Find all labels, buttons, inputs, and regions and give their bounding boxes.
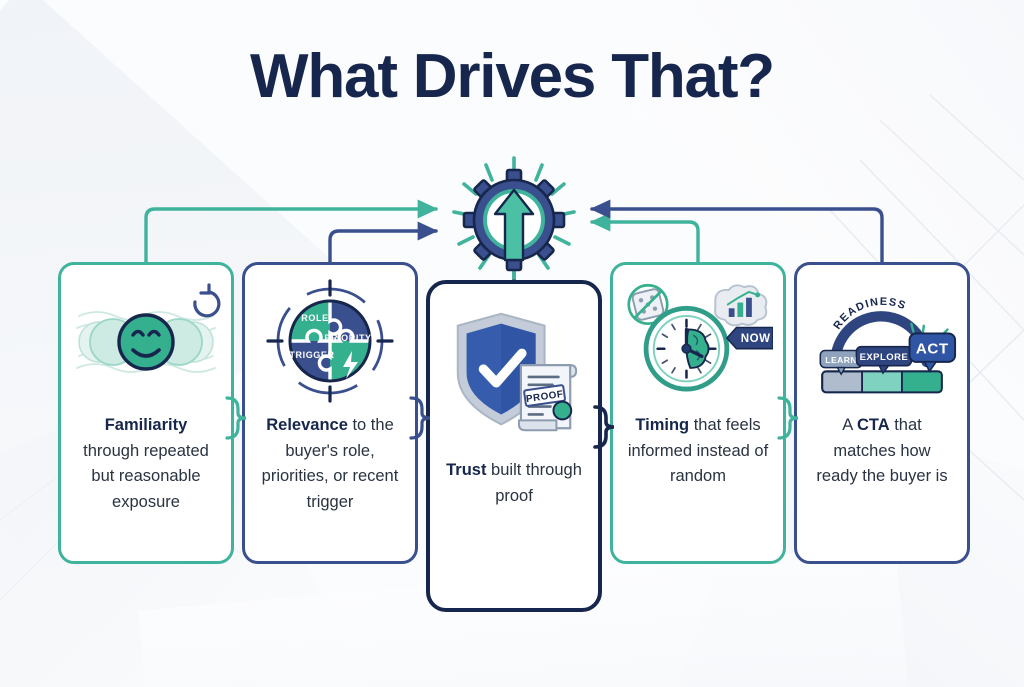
card-trust-rest: built through proof [486,461,581,505]
card-relevance-text: Relevance to the buyer's role, prioritie… [255,413,405,515]
explore-label: EXPLORE [860,352,909,363]
clock-brain-no-dice-icon: NOW [623,279,773,403]
chevron-between-card-1-and-2 [224,395,250,441]
stage-pill-explore: EXPLORE [856,347,911,374]
certificate-icon: PROOF [519,365,576,430]
card-trust[interactable]: PROOF Trust built through proof [426,280,602,612]
learn-label: LEARN [825,355,857,365]
readiness-meter-icon: READINESS [807,279,957,403]
card-familiarity-lead: Familiarity [105,416,188,434]
act-label: ACT [916,340,949,357]
card-cta[interactable]: READINESS [794,262,970,564]
puzzle-label-role: ROLE [301,313,328,323]
now-label: NOW [741,333,771,345]
card-timing-text: Timing that feels informed instead of ra… [623,413,773,490]
card-cta-lead: CTA [857,416,890,434]
card-relevance-art: ROLE PRIORITY TRIGGER [255,279,405,403]
card-relevance[interactable]: ROLE PRIORITY TRIGGER Relevance to the b… [242,262,418,564]
repeat-arrow-icon [195,285,219,316]
card-trust-lead: Trust [446,461,486,479]
readiness-progress-bar [822,371,942,392]
card-familiarity-text: Familiarity through repeated but reasona… [71,413,221,515]
infographic-canvas: What Drives That? [0,0,1024,687]
repeating-smiley-face-icon [71,282,221,400]
puzzle-label-trigger: TRIGGER [289,350,334,360]
smiley-face [119,315,173,369]
card-cta-lead-prefix: A [842,416,857,434]
seal-icon [553,402,571,420]
card-timing-lead: Timing [635,416,689,434]
card-cta-art: READINESS [807,279,957,403]
card-trust-art: PROOF [440,298,588,448]
card-timing-art: NOW [623,279,773,403]
card-trust-text: Trust built through proof [440,458,588,509]
card-familiarity[interactable]: Familiarity through repeated but reasona… [58,262,234,564]
card-familiarity-rest: through repeated but reasonable exposure [83,442,209,511]
shield-check-proof-icon: PROOF [440,303,588,443]
chevron-between-card-2-and-3 [408,395,434,441]
card-cta-text: A CTA that matches how ready the buyer i… [807,413,957,490]
puzzle-label-priority: PRIORITY [324,333,371,343]
chevron-between-card-3-and-4 [592,404,618,450]
now-badge: NOW [727,328,773,349]
card-relevance-lead: Relevance [266,416,348,434]
chevron-between-card-4-and-5 [776,395,802,441]
clock-icon [646,308,727,389]
stage-pill-act: ACT [910,333,956,371]
card-familiarity-art [71,279,221,403]
puzzle-target-icon: ROLE PRIORITY TRIGGER [260,279,400,403]
card-timing[interactable]: NOW Timing that feels informed instead o… [610,262,786,564]
